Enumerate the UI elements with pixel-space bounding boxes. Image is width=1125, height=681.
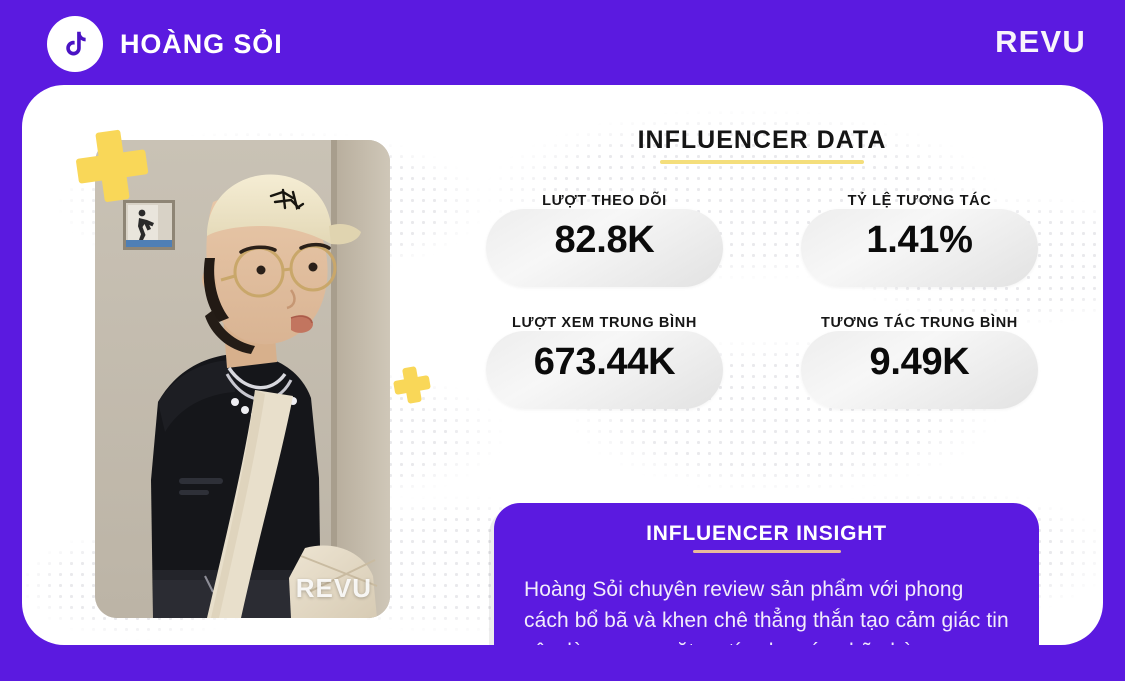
stat-card-average-engagement: TƯƠNG TÁC TRUNG BÌNH 9.49K xyxy=(801,314,1038,409)
content-card: REVU INFLUENCER DATA LƯỢT THEO DÕI 82.8K… xyxy=(22,85,1103,645)
revu-brand-logo: REVU xyxy=(995,23,1086,61)
influencer-insight-heading-group: INFLUENCER INSIGHT xyxy=(524,520,1009,553)
influencer-insight-card: INFLUENCER INSIGHT Hoàng Sỏi chuyên revi… xyxy=(494,503,1039,645)
stat-value: 1.41% xyxy=(801,216,1038,264)
stat-value: 82.8K xyxy=(486,216,723,264)
influencer-name: HOÀNG SỎI xyxy=(120,26,283,62)
page-header: HOÀNG SỎI REVU xyxy=(0,0,1125,86)
influencer-insight-body: Hoàng Sỏi chuyên review sản phẩm với pho… xyxy=(524,574,1009,645)
influencer-photo-art xyxy=(95,140,390,618)
influencer-insight-heading: INFLUENCER INSIGHT xyxy=(646,520,887,547)
photo-watermark: REVU xyxy=(296,573,372,604)
influencer-data-panel: INFLUENCER DATA LƯỢT THEO DÕI 82.8K TỶ L… xyxy=(462,125,1062,409)
stat-label: LƯỢT XEM TRUNG BÌNH xyxy=(486,314,723,332)
stat-card-engagement-rate: TỶ LỆ TƯƠNG TÁC 1.41% xyxy=(801,192,1038,287)
stat-value: 673.44K xyxy=(486,338,723,386)
influencer-photo: REVU xyxy=(95,140,390,618)
influencer-data-heading-group: INFLUENCER DATA xyxy=(462,125,1062,164)
stat-card-followers: LƯỢT THEO DÕI 82.8K xyxy=(486,192,723,287)
plus-decoration-large xyxy=(72,126,151,205)
tiktok-icon xyxy=(47,16,103,72)
stat-value: 9.49K xyxy=(801,338,1038,386)
stat-label: TỶ LỆ TƯƠNG TÁC xyxy=(801,192,1038,210)
influencer-data-heading-underline xyxy=(660,160,864,164)
stat-grid: LƯỢT THEO DÕI 82.8K TỶ LỆ TƯƠNG TÁC 1.41… xyxy=(462,192,1062,409)
stat-label: LƯỢT THEO DÕI xyxy=(486,192,723,210)
stat-card-average-views: LƯỢT XEM TRUNG BÌNH 673.44K xyxy=(486,314,723,409)
influencer-data-heading: INFLUENCER DATA xyxy=(638,125,887,155)
influencer-insight-heading-underline xyxy=(693,550,841,553)
stat-label: TƯƠNG TÁC TRUNG BÌNH xyxy=(801,314,1038,332)
plus-decoration-small xyxy=(391,364,433,406)
